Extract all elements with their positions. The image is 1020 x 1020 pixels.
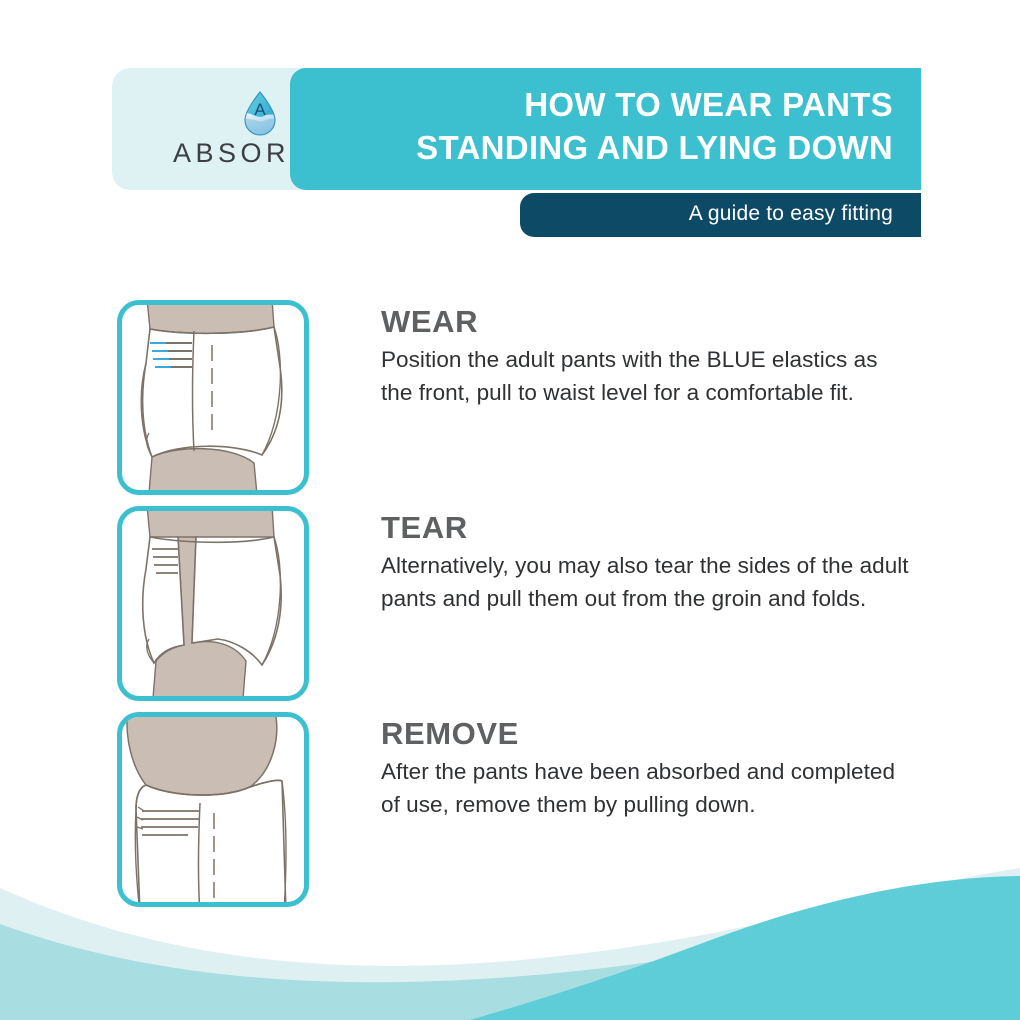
steps-list: WEAR Position the adult pants with the B… [0, 300, 1020, 924]
step-row: WEAR Position the adult pants with the B… [0, 300, 1020, 506]
pants-torn-at-side-illustration [117, 506, 309, 701]
header: A ABSORBA™ HOW TO WEAR PANTS STANDING AN… [0, 0, 1020, 250]
step-row: TEAR Alternatively, you may also tear th… [0, 506, 1020, 712]
step-title: TEAR [381, 512, 911, 543]
header-subtitle-band: A guide to easy fitting [520, 193, 921, 237]
page-title-line-2: STANDING AND LYING DOWN [293, 127, 893, 170]
page-title-line-1: HOW TO WEAR PANTS [524, 86, 893, 123]
step-title: WEAR [381, 306, 911, 337]
svg-text:A: A [254, 100, 266, 119]
decorative-wave-footer [0, 860, 1020, 1020]
pants-worn-at-waist-illustration [117, 300, 309, 495]
water-droplet-logo-icon: A [240, 90, 280, 136]
wave-deep [470, 876, 1020, 1020]
step-body: Position the adult pants with the BLUE e… [381, 343, 911, 409]
step-text-block: TEAR Alternatively, you may also tear th… [381, 512, 911, 615]
step-body: After the pants have been absorbed and c… [381, 755, 911, 821]
step-text-block: WEAR Position the adult pants with the B… [381, 306, 911, 409]
page-title: HOW TO WEAR PANTS STANDING AND LYING DOW… [293, 84, 893, 169]
step-body: Alternatively, you may also tear the sid… [381, 549, 911, 615]
step-title: REMOVE [381, 718, 911, 749]
header-title-band: HOW TO WEAR PANTS STANDING AND LYING DOW… [290, 68, 921, 190]
page-subtitle: A guide to easy fitting [689, 202, 893, 226]
step-text-block: REMOVE After the pants have been absorbe… [381, 718, 911, 821]
